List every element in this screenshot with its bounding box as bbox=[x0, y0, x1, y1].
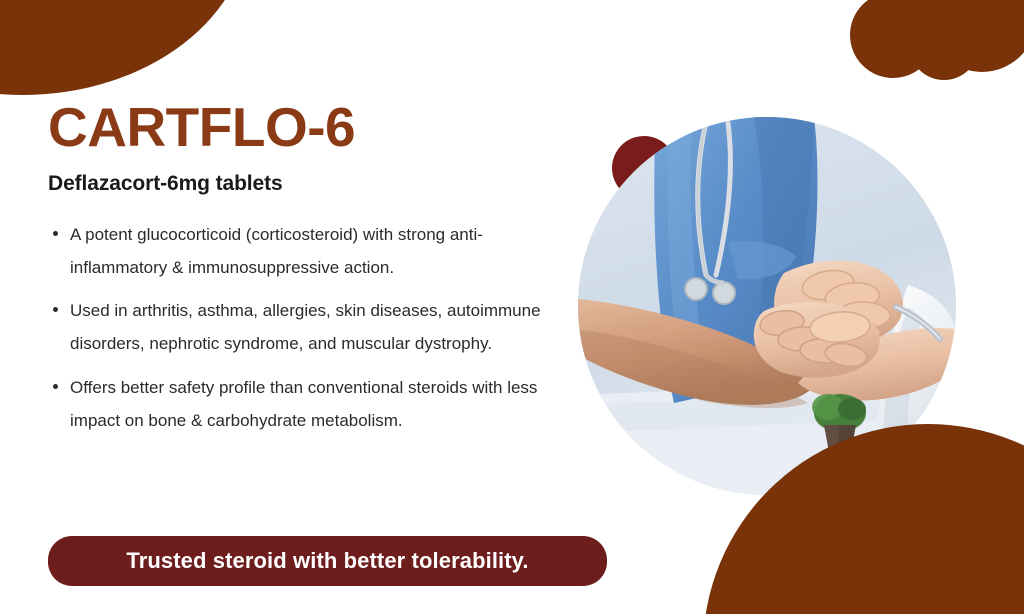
product-subtitle: Deflazacort-6mg tablets bbox=[48, 172, 578, 196]
decor-blob-lobe bbox=[869, 0, 1001, 70]
poster-canvas: CARTFLO-6 Deflazacort-6mg tablets A pote… bbox=[0, 0, 1024, 614]
decor-top-right-blob bbox=[849, 0, 1024, 125]
decor-blob-lobe bbox=[850, 0, 936, 78]
tagline-banner: Trusted steroid with better tolerability… bbox=[48, 536, 607, 586]
list-item: Used in arthritis, asthma, allergies, sk… bbox=[48, 294, 578, 360]
feature-list: A potent glucocorticoid (corticosteroid)… bbox=[48, 218, 578, 437]
bullet-icon bbox=[53, 307, 58, 312]
feature-text: Offers better safety profile than conven… bbox=[70, 378, 537, 430]
feature-text: Used in arthritis, asthma, allergies, sk… bbox=[70, 301, 541, 353]
photo-artwork bbox=[578, 117, 956, 495]
decor-blob-lobe bbox=[909, 10, 979, 80]
decor-blob-lobe bbox=[927, 0, 1024, 72]
list-item: A potent glucocorticoid (corticosteroid)… bbox=[48, 218, 578, 284]
feature-text: A potent glucocorticoid (corticosteroid)… bbox=[70, 225, 483, 277]
tagline-text: Trusted steroid with better tolerability… bbox=[126, 548, 528, 574]
decor-blob-lobe bbox=[953, 0, 1024, 55]
list-item: Offers better safety profile than conven… bbox=[48, 371, 578, 437]
page-title: CARTFLO-6 bbox=[48, 100, 578, 155]
decor-top-left-ellipse bbox=[0, 0, 250, 95]
clinician-holding-patient-hands-photo bbox=[578, 117, 956, 495]
text-content-column: CARTFLO-6 Deflazacort-6mg tablets A pote… bbox=[48, 100, 578, 447]
bullet-icon bbox=[53, 384, 58, 389]
bullet-icon bbox=[53, 231, 58, 236]
